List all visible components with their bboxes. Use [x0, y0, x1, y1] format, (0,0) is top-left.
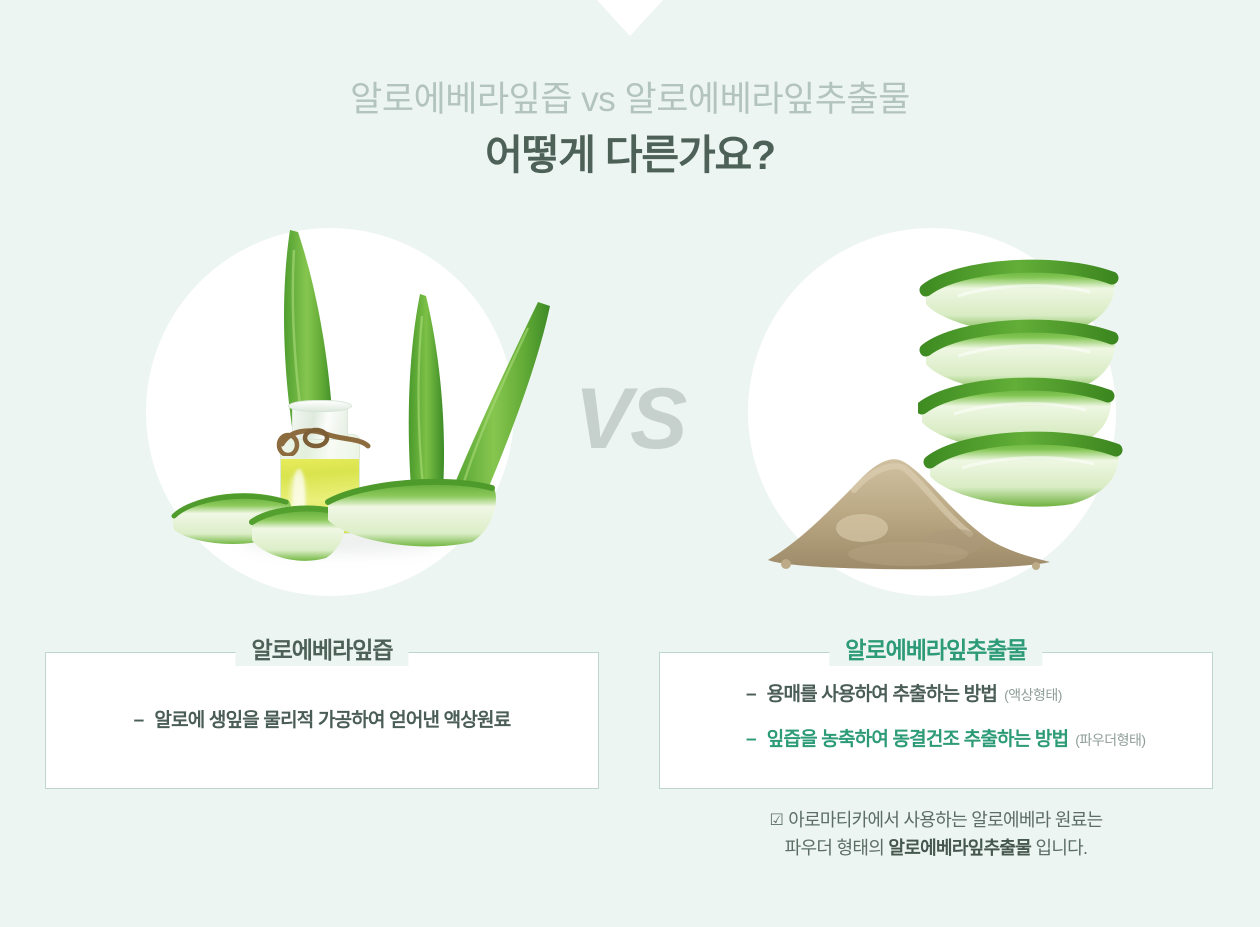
right-media-circle: [748, 228, 1116, 596]
bullet-text: 용매를 사용하여 추출하는 방법: [767, 683, 997, 708]
footnote-text-1: 아로마티카에서 사용하는 알로에베라 원료는: [788, 810, 1102, 830]
card-body: – 알로에 생잎을 물리적 가공하여 얻어낸 액상원료: [46, 709, 598, 734]
card-title: 알로에베라잎즙: [235, 635, 408, 666]
card-title: 알로에베라잎추출물: [829, 635, 1042, 666]
headline-subtitle: 알로에베라잎즙 vs 알로에베라잎추출물: [0, 78, 1260, 122]
footnote: ☑아로마티카에서 사용하는 알로에베라 원료는 파우더 형태의 알로에베라잎추출…: [659, 806, 1213, 863]
card-aloe-extract: 알로에베라잎추출물 – 용매를 사용하여 추출하는 방법 (액상형태) – 잎즙…: [659, 652, 1213, 789]
list-item: – 용매를 사용하여 추출하는 방법 (액상형태): [694, 683, 1178, 708]
bullet-dash: –: [134, 709, 144, 734]
page-title: 어떻게 다른가요?: [0, 131, 1260, 180]
aloe-slice-icon: [322, 474, 502, 554]
footnote-product-name: 알로에베라잎추출물: [888, 838, 1031, 858]
bullet-note: (액상형태): [1004, 686, 1062, 704]
bullet-dash: –: [746, 683, 756, 708]
aloe-powder-mound-icon: [758, 424, 1058, 574]
headline-block: 알로에베라잎즙 vs 알로에베라잎추출물 어떻게 다른가요?: [0, 78, 1260, 180]
checkbox-checked-icon: ☑: [770, 808, 784, 833]
bullet-text: 알로에 생잎을 물리적 가공하여 얻어낸 액상원료: [154, 709, 510, 734]
footnote-text-2-before: 파우더 형태의: [785, 838, 889, 858]
footnote-line-2: 파우더 형태의 알로에베라잎추출물 입니다.: [659, 834, 1213, 862]
bullet-dash: –: [746, 728, 756, 753]
aloe-powder-slices-icon: [748, 228, 1116, 596]
top-notch-triangle: [597, 0, 663, 36]
bullet-note: (파우더형태): [1075, 731, 1145, 749]
list-item: – 잎즙을 농축하여 동결건조 추출하는 방법 (파우더형태): [694, 728, 1178, 753]
footnote-line-1: ☑아로마티카에서 사용하는 알로에베라 원료는: [659, 806, 1213, 834]
footnote-text-2-after: 입니다.: [1031, 838, 1087, 858]
list-item: – 알로에 생잎을 물리적 가공하여 얻어낸 액상원료: [80, 709, 564, 734]
bullet-text: 잎즙을 농축하여 동결건조 추출하는 방법: [767, 728, 1068, 753]
jar-lip: [288, 400, 352, 412]
twine-icon: [276, 426, 372, 456]
comparison-row: VS: [0, 228, 1260, 596]
card-aloe-juice: 알로에베라잎즙 – 알로에 생잎을 물리적 가공하여 얻어낸 액상원료: [45, 652, 599, 789]
card-body: – 용매를 사용하여 추출하는 방법 (액상형태) – 잎즙을 농축하여 동결건…: [660, 683, 1212, 752]
